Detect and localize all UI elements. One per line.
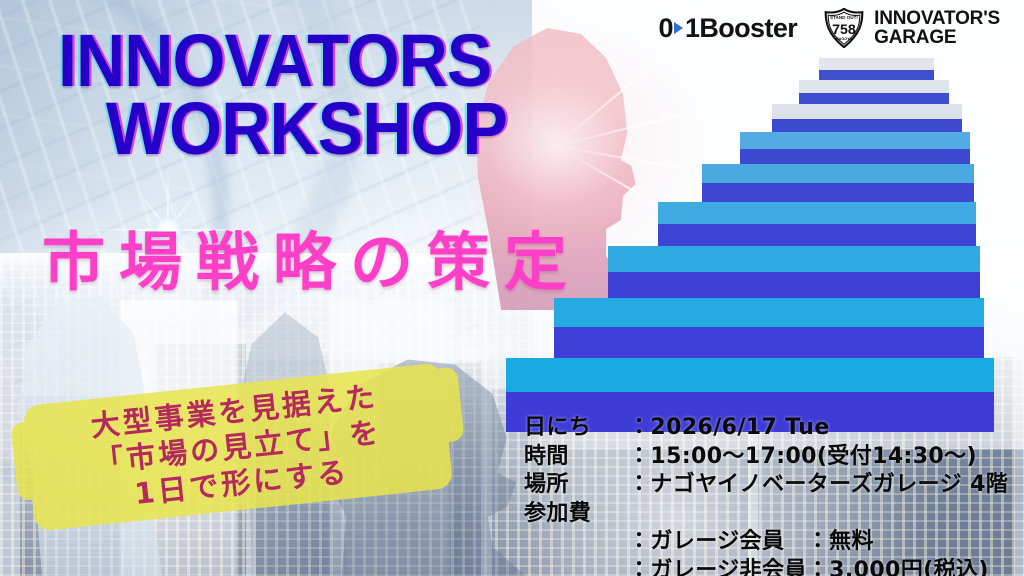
subtitle-japanese: 市場戦略の策定	[42, 212, 581, 303]
stair-tread	[658, 202, 976, 224]
detail-value: ：15:00〜17:00(受付14:30〜)	[628, 443, 977, 472]
detail-label: 時間	[524, 443, 628, 472]
stair-step	[702, 164, 974, 206]
shield-758-icon: STAND OUT! 758 NAGOYA	[823, 8, 865, 48]
detail-value: ：ガレージ非会員：3,000円(税込)	[628, 557, 989, 576]
stair-tread	[608, 246, 980, 272]
poster-canvas: 0 1Booster STAND OUT! 758 NAGOYA INNOVAT…	[0, 0, 1024, 576]
svg-text:NAGOYA: NAGOYA	[836, 37, 852, 41]
logo-0-1-booster: 0 1Booster	[659, 13, 798, 44]
detail-label	[524, 528, 628, 557]
stair-tread	[554, 298, 984, 327]
detail-label: 日にち	[524, 414, 628, 443]
garage-name-line1: INNOVATOR'S	[874, 9, 1000, 28]
detail-row: 日にち：2026/6/17 Tue	[524, 414, 1008, 443]
stair-step	[554, 298, 984, 362]
stair-tread	[799, 80, 949, 93]
detail-row: ：ガレージ会員 ：無料	[524, 528, 1008, 557]
stair-step	[740, 132, 970, 168]
detail-value: ：ガレージ会員 ：無料	[628, 528, 874, 557]
header-logos: 0 1Booster STAND OUT! 758 NAGOYA INNOVAT…	[659, 8, 1000, 48]
main-title: INNOVATORS WORKSHOP	[58, 27, 647, 163]
title-line-1: INNOVATORS	[58, 27, 647, 95]
booster-text-after: 1Booster	[685, 13, 797, 44]
stair-tread	[772, 104, 962, 119]
title-line-2: WORKSHOP	[58, 95, 647, 163]
detail-label: 場所	[524, 471, 628, 500]
detail-label	[524, 557, 628, 576]
garage-wordmark: INNOVATOR'S GARAGE	[874, 9, 1000, 48]
detail-row: 場所：ナゴヤイノベーターズガレージ 4階	[524, 471, 1008, 500]
svg-text:758: 758	[832, 22, 856, 38]
stair-tread	[506, 358, 994, 392]
event-details: 日にち：2026/6/17 Tue時間：15:00〜17:00(受付14:30〜…	[524, 414, 1008, 576]
stair-step	[608, 246, 980, 302]
stair-tread	[740, 132, 970, 149]
booster-text-before: 0	[659, 13, 673, 44]
detail-value: ：2026/6/17 Tue	[628, 414, 830, 443]
stair-step	[658, 202, 976, 250]
detail-label: 参加費	[524, 500, 628, 529]
detail-row: ：ガレージ非会員：3,000円(税込)	[524, 557, 1008, 576]
detail-row: 時間：15:00〜17:00(受付14:30〜)	[524, 443, 1008, 472]
detail-row: 参加費	[524, 500, 1008, 529]
stair-tread	[819, 58, 934, 70]
logo-innovators-garage: STAND OUT! 758 NAGOYA INNOVATOR'S GARAGE	[823, 8, 1000, 48]
stair-riser	[554, 327, 984, 362]
garage-name-line2: GARAGE	[874, 28, 1000, 47]
play-triangle-icon	[674, 22, 683, 34]
detail-value: ：ナゴヤイノベーターズガレージ 4階	[628, 471, 1008, 500]
stair-tread	[702, 164, 974, 183]
svg-text:STAND OUT!: STAND OUT!	[830, 15, 858, 20]
